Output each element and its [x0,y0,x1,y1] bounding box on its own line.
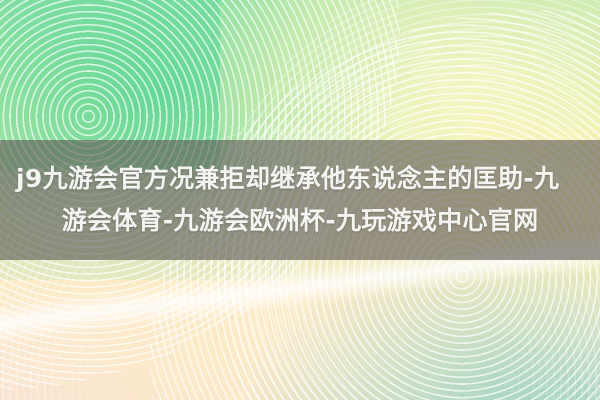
title-banner: j9九游会官方况兼拒却继承他东说念主的匡助-九 游会体育-九游会欧洲杯-九玩游戏… [0,140,600,260]
page-title-line-1: j9九游会官方况兼拒却继承他东说念主的匡助-九 [8,158,592,200]
page-title: j9九游会官方况兼拒却继承他东说念主的匡助-九 游会体育-九游会欧洲杯-九玩游戏… [8,158,592,242]
page-root: j9九游会官方况兼拒却继承他东说念主的匡助-九 游会体育-九游会欧洲杯-九玩游戏… [0,0,600,400]
background-bloom-bottom-right [250,240,600,400]
page-title-line-2: 游会体育-九游会欧洲杯-九玩游戏中心官网 [8,200,592,242]
